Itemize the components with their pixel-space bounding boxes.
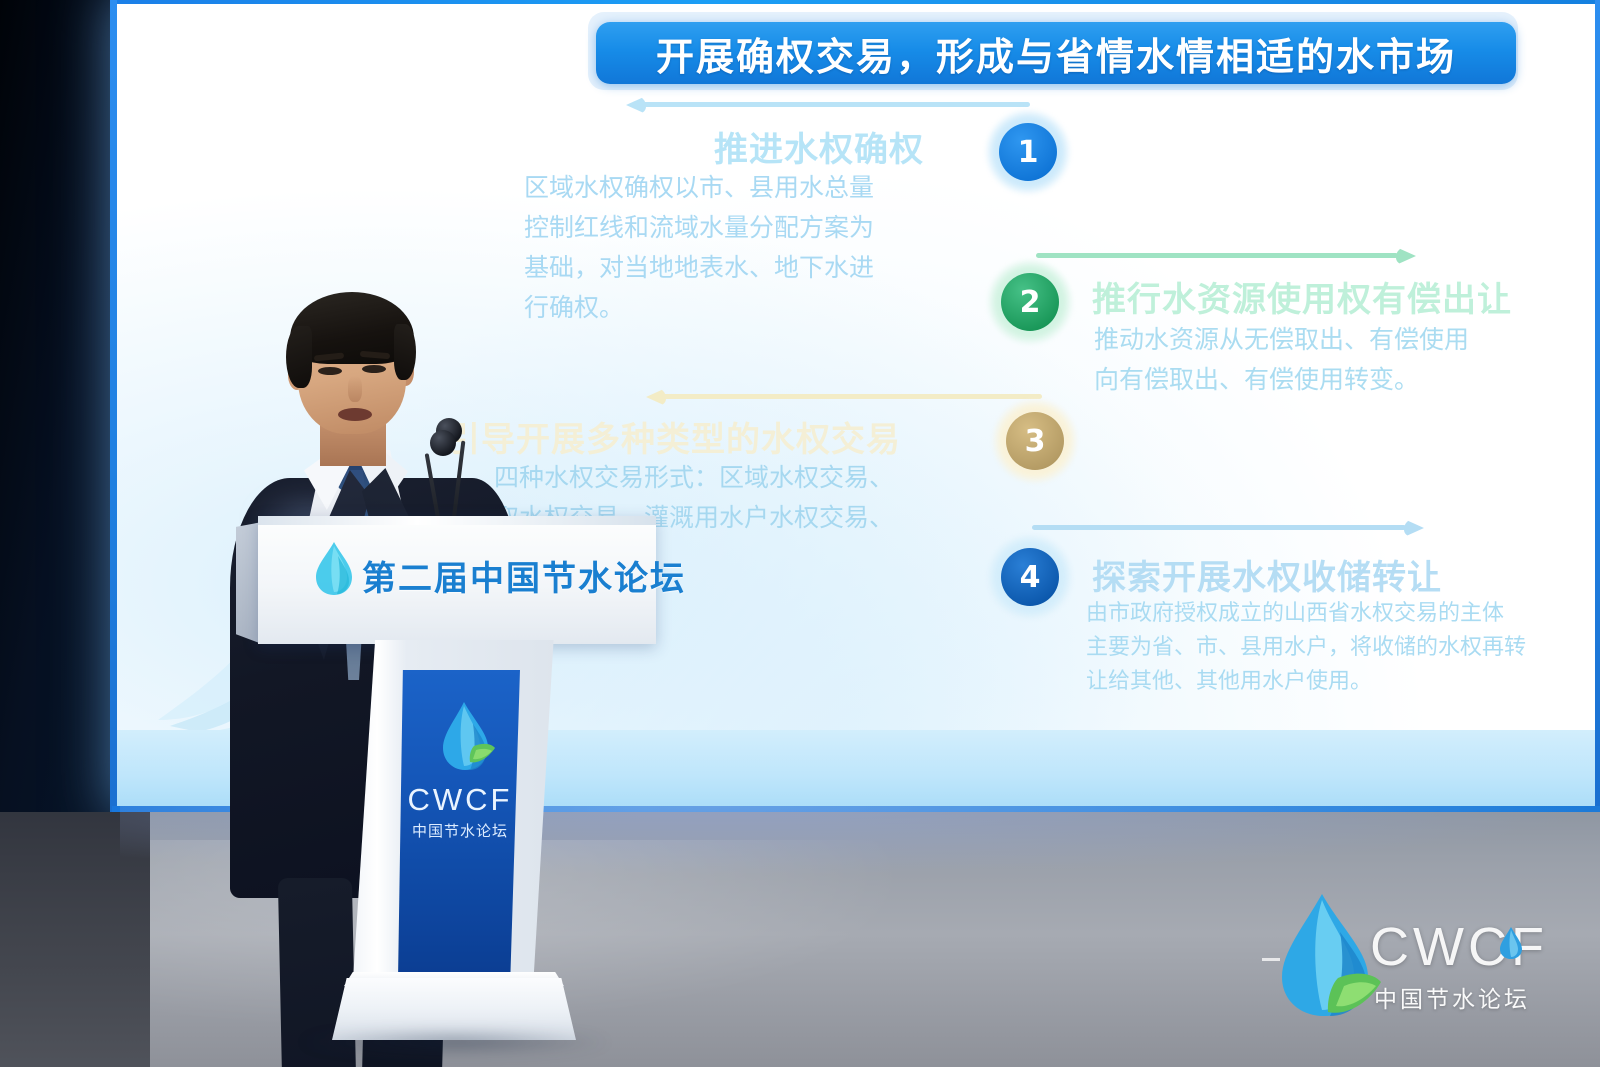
- podium-panel-waterdrop-leaf-icon: [438, 700, 496, 772]
- screen-frame-left: [110, 0, 117, 818]
- speaker-hair-right: [394, 324, 416, 380]
- screen-frame-top: [110, 0, 1600, 4]
- podium-floor-shadow: [300, 1030, 610, 1054]
- screen-frame-right: [1595, 0, 1600, 818]
- podium-panel-subtitle: 中国节水论坛: [404, 820, 516, 841]
- block-4-badge: 4: [1001, 548, 1059, 606]
- speaker-eye-left: [318, 367, 342, 375]
- block-4-heading: 探索开展水权收储转让: [1092, 550, 1442, 599]
- cwcf-watermark: CWCF 中国节水论坛: [1262, 890, 1592, 1020]
- watermark-waterdrop-leaf-icon: [1274, 890, 1382, 1018]
- podium-desk-edge: [258, 516, 656, 525]
- podium-forum-title: 第二届中国节水论坛: [362, 551, 686, 600]
- speaker-mouth: [338, 408, 372, 421]
- speaker-hair-left: [286, 326, 312, 388]
- block-4-body-line: 主要为省、市、县用水户，将收储的水权再转: [1086, 630, 1526, 664]
- speaker-eye-right: [362, 365, 386, 373]
- podium-panel-acronym: CWCF: [404, 782, 516, 818]
- watermark-inner-drop-icon: [1498, 926, 1524, 960]
- conference-photo-scene: 开展确权交易，形成与省情水情相适的水市场 1 推进水权确权 区域水权确权以市、县…: [0, 0, 1600, 1067]
- podium-waterdrop-logo-icon: [312, 540, 356, 596]
- block-4-body-line: 由市政府授权成立的山西省水权交易的主体: [1086, 596, 1526, 630]
- watermark-subtitle: 中国节水论坛: [1374, 980, 1530, 1014]
- block-4-body-line: 让给其他、其他用水户使用。: [1086, 664, 1526, 698]
- speaker-nose: [348, 376, 362, 402]
- block-4-number: 4: [1020, 560, 1041, 595]
- block-4-arrow-icon: [1032, 519, 1424, 535]
- block-4-body: 由市政府授权成立的山西省水权交易的主体 主要为省、市、县用水户，将收储的水权再转…: [1086, 596, 1526, 698]
